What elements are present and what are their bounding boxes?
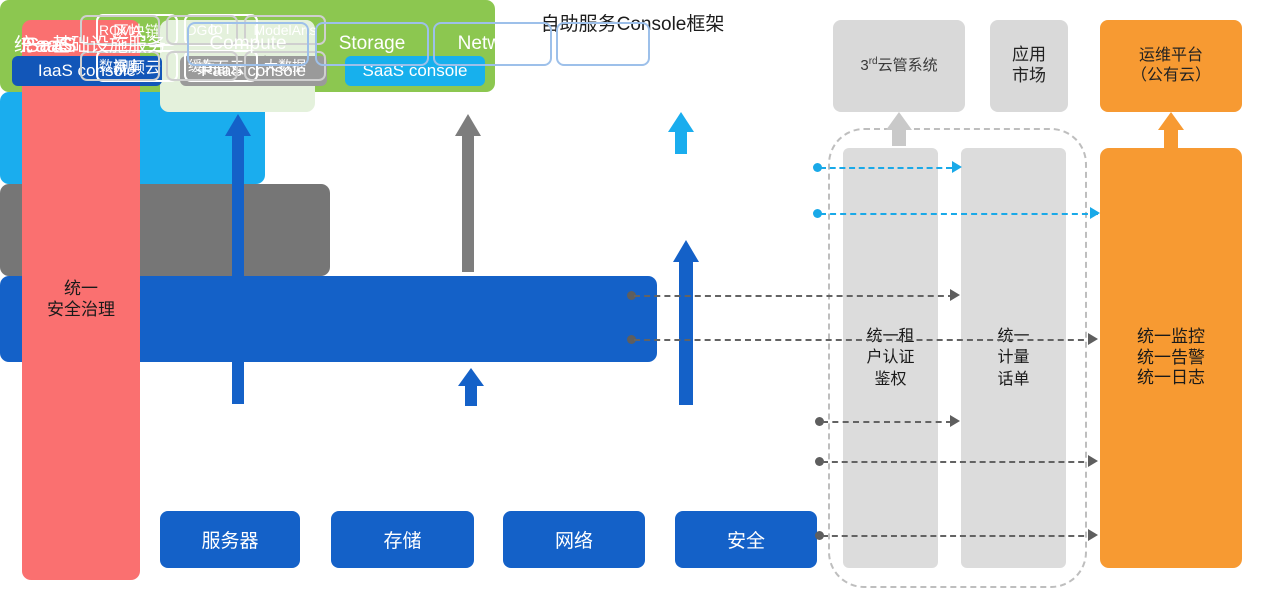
security-governance-label: 统一 安全治理 (47, 279, 115, 320)
resource-dashed-arrowhead-1 (1088, 529, 1098, 541)
resource-dashed-line-1 (822, 535, 1094, 537)
unified-metering-column: 统一 计量 话单 (961, 148, 1066, 568)
infra-dashed-arrowhead-2 (1088, 455, 1098, 467)
infra-item-network[interactable]: Network (433, 22, 552, 66)
arrow-infra-to-paas (458, 368, 484, 406)
arrow-paas-to-console (455, 114, 481, 272)
app-market-label: 应用 市场 (1012, 45, 1046, 86)
saas-dashed-line-1 (820, 167, 952, 169)
arrow-saas-to-console (668, 112, 694, 152)
app-market-box: 应用 市场 (990, 20, 1068, 112)
infra-item-cce[interactable]: CCE (556, 22, 650, 66)
infra-item-storage[interactable]: Storage (315, 22, 429, 66)
saas-dashed-arrowhead-2 (1090, 207, 1100, 219)
paas-dashed-line-2 (634, 339, 1094, 341)
infra-item-compute[interactable]: Compute (187, 22, 309, 66)
paas-dashed-arrowhead-2 (1088, 333, 1098, 345)
arrow-infra-to-api-gateway (225, 114, 251, 404)
ops-platform-top-label: 运维平台 （公有云） (1131, 46, 1211, 85)
paas-dashed-arrowhead-1 (950, 289, 960, 301)
resource-box-network[interactable]: 网络 (503, 511, 645, 568)
unified-tenant-auth-column: 统一租 户认证 鉴权 (843, 148, 938, 568)
arrow-to-ops-platform (1158, 112, 1184, 148)
third-party-cloud-label: 3rd云管系统 (860, 56, 937, 75)
infra-dashed-line-2 (822, 461, 1094, 463)
resource-box-security[interactable]: 安全 (675, 511, 817, 568)
infra-dashed-line-1 (822, 421, 952, 423)
infra-dashed-arrowhead-1 (950, 415, 960, 427)
resource-box-server[interactable]: 服务器 (160, 511, 300, 568)
arrow-to-third-party-cloud (886, 112, 912, 144)
paas-dashed-line-1 (634, 295, 954, 297)
arrow-infra-to-saas (673, 240, 699, 405)
unified-monitoring-label: 统一监控 统一告警 统一日志 (1137, 327, 1205, 389)
security-governance-column: 统一 安全治理 (22, 20, 140, 580)
resource-box-storage[interactable]: 存储 (331, 511, 474, 568)
saas-dashed-line-2 (820, 213, 1098, 215)
saas-dashed-arrowhead-1 (952, 161, 962, 173)
third-party-cloud-management-box: 3rd云管系统 (833, 20, 965, 112)
architecture-diagram: 统一 安全治理 API网关 自助服务Console框架 IaaS console… (0, 0, 1265, 605)
unified-monitoring-column: 统一监控 统一告警 统一日志 (1100, 148, 1242, 568)
infrastructure-label: 统一基础设施服务 (14, 0, 166, 86)
ops-platform-public-cloud-box: 运维平台 （公有云） (1100, 20, 1242, 112)
